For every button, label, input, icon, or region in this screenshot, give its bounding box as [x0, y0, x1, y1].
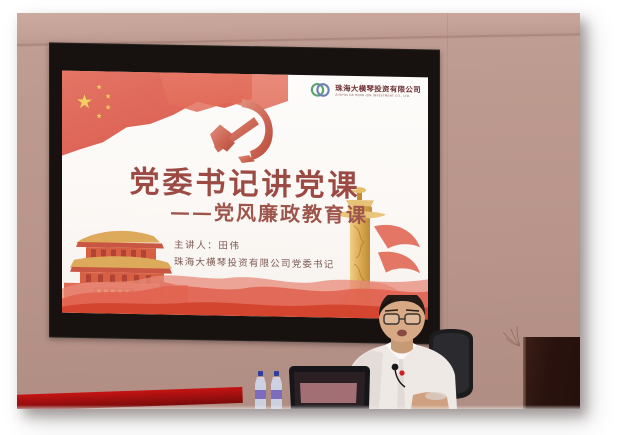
door-panel [526, 337, 580, 409]
slide-affiliation-line: 珠海大横琴投资有限公司党委书记 [174, 254, 335, 271]
water-bottle-right [271, 371, 282, 409]
presentation-slide: ★ ★ ★ ★ ★ [62, 71, 428, 320]
flag-star-small-2: ★ [105, 93, 111, 100]
tiananmen-gate-graphic [64, 223, 188, 309]
slide-title: 党委书记讲党课 [62, 156, 428, 207]
water-bottle-left [255, 371, 266, 409]
photo-frame: ★ ★ ★ ★ ★ [0, 0, 627, 435]
plant-silhouette-icon [492, 321, 522, 347]
flag-star-small-4: ★ [96, 113, 102, 120]
water-bottles [255, 371, 289, 409]
party-emblem-icon [202, 94, 280, 167]
photograph: ★ ★ ★ ★ ★ [17, 13, 580, 409]
laptop [283, 363, 377, 409]
company-name-cn: 珠海大横琴投资有限公司 [335, 84, 421, 93]
slide-subtitle: ——党风廉政教育课 [62, 194, 428, 230]
flag-star-small-1: ★ [96, 84, 102, 91]
company-name-en: ZHUHAI DA HENG QIN INVESTMENT CO., LTD. [335, 93, 421, 97]
prc-flag-graphic [62, 71, 252, 166]
photo-bottom-fade [17, 405, 580, 409]
flag-star-small-3: ★ [105, 104, 111, 111]
prc-flag-wave [158, 71, 288, 129]
interlocking-loops-logo-icon [310, 81, 331, 98]
company-logo: 珠海大横琴投资有限公司 ZHUHAI DA HENG QIN INVESTMEN… [310, 81, 421, 100]
flag-star-large: ★ [76, 93, 93, 112]
slide-presenter-line: 主讲人：田伟 [174, 237, 241, 252]
